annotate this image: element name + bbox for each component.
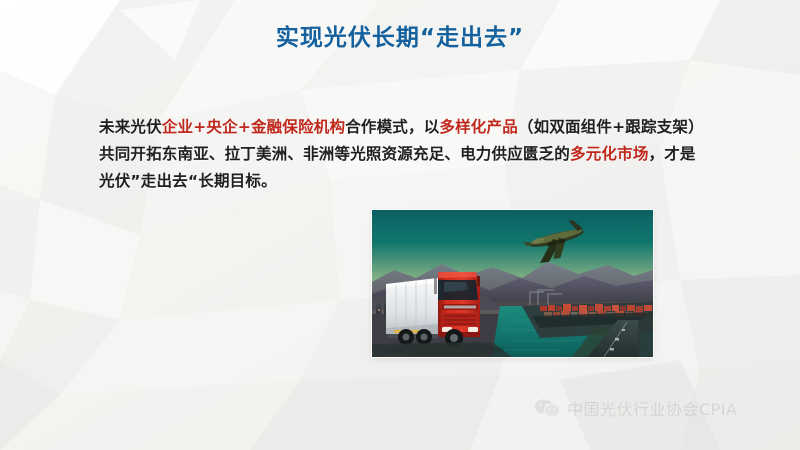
slide-title-container: 实现光伏长期“走出去”: [0, 18, 800, 52]
presentation-slide: 实现光伏长期“走出去” 未来光伏企业+央企+金融保险机构合作模式，以多样化产品（…: [0, 0, 800, 450]
body-line3-seg1: 光伏”走出去“长期目标。: [99, 172, 277, 190]
body-line2-highlight1: 多元化市场: [570, 145, 649, 163]
watermark-text: 中国光伏行业协会CPIA: [567, 396, 738, 420]
body-line1-seg1: 未来光伏: [99, 118, 162, 136]
logistics-photo: [372, 210, 653, 357]
body-line1-highlight2: 多样化产品: [439, 118, 518, 136]
wechat-icon: [534, 397, 560, 419]
body-line1-highlight1: 企业+央企+金融保险机构: [162, 118, 345, 136]
body-line-1: 未来光伏企业+央企+金融保险机构合作模式，以多样化产品（如双面组件+跟踪支架）: [99, 114, 659, 141]
body-line2-seg1: 共同开拓东南亚、拉丁美洲、非洲等光照资源充足、电力供应匮乏的: [99, 145, 570, 163]
body-paragraph: 未来光伏企业+央企+金融保险机构合作模式，以多样化产品（如双面组件+跟踪支架） …: [99, 114, 659, 195]
watermark: 中国光伏行业协会CPIA: [534, 396, 738, 420]
body-line-2: 共同开拓东南亚、拉丁美洲、非洲等光照资源充足、电力供应匮乏的多元化市场，才是: [99, 141, 659, 168]
body-line1-seg3: 合作模式，以: [345, 118, 439, 136]
body-line-3: 光伏”走出去“长期目标。: [99, 168, 659, 195]
page-title: 实现光伏长期“走出去”: [276, 18, 524, 52]
body-line1-seg5: （如双面组件+跟踪支架）: [518, 118, 704, 136]
body-line2-seg3: ，才是: [649, 145, 696, 163]
